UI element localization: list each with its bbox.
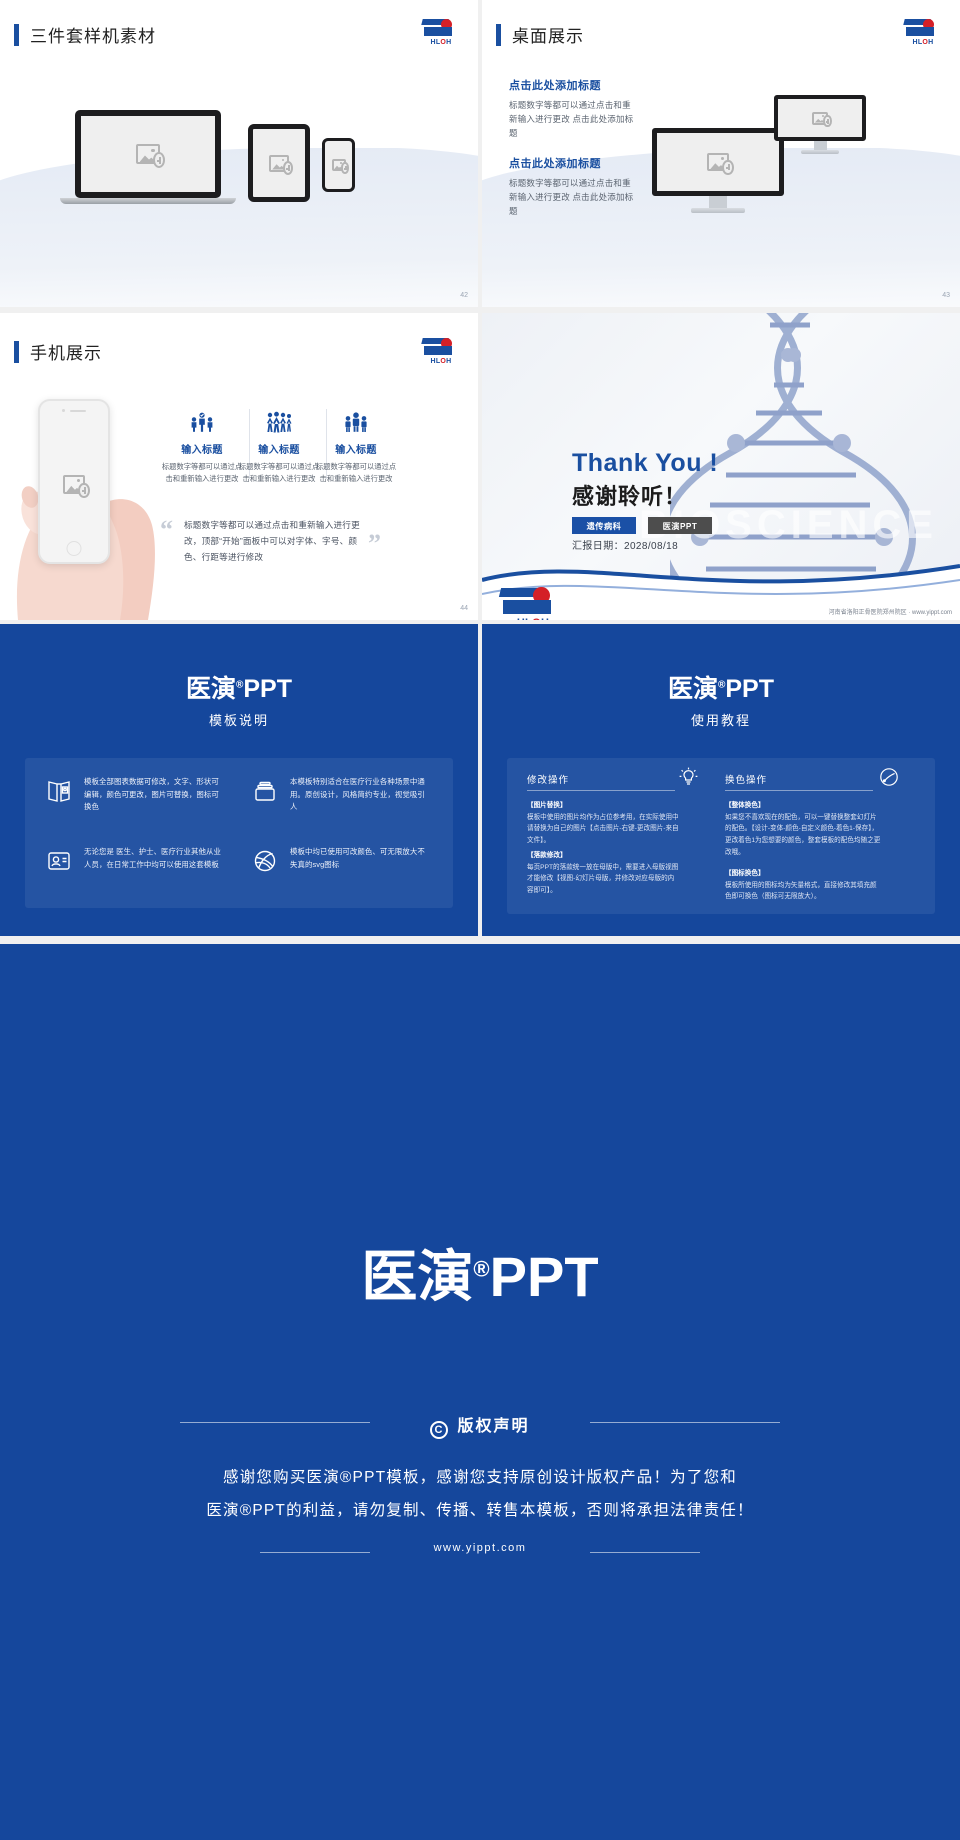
tutorial-item-2-1: 【整体换色】 如果您不喜欢现在的配色，可以一键替换整套幻灯片的配色。【设计-变体… [725, 800, 883, 859]
tag-brand[interactable]: 医演PPT [648, 517, 712, 534]
slide4-footer-note: 河南省洛阳正骨医院郑州院区 · www.yippt.com [829, 607, 952, 616]
book-icon [44, 776, 74, 806]
slide-separator-vertical [478, 0, 482, 936]
slide-5-template-description[interactable]: 医演®PPT 模板说明 模板全部图表数据可修改，文字、形状可编辑，颜色可更改，图… [0, 624, 478, 936]
page-number: 43 [942, 292, 950, 299]
brand-subtitle: 使用教程 [482, 710, 960, 729]
block-heading: 点击此处添加标题 [509, 77, 639, 93]
page-number: 44 [460, 605, 468, 612]
title-tick-icon [14, 341, 19, 363]
brand-logo-large: 医演®PPT [0, 1232, 960, 1313]
feature-body: 标题数字等都可以通过点击和重新输入进行更改 [237, 461, 321, 485]
presentation-grid: 三件套样机素材 [0, 0, 960, 1840]
description-text: 本模板特别适合在医疗行业各种场景中通用。原创设计，风格简约专业，视觉吸引人 [290, 776, 430, 814]
quote-close-icon: ” [368, 531, 381, 557]
three-people-icon [314, 409, 398, 435]
copyright-body: 感谢您购买医演®PPT模板，感谢您支持原创设计版权产品！为了您和 医演®PPT的… [0, 1462, 960, 1527]
brand-block: 医演®PPT 模板说明 [0, 669, 478, 729]
brand-name: 医演®PPT [186, 669, 292, 705]
tutorial-heading-2: 换色操作 [725, 772, 767, 786]
tutorial-heading-1: 修改操作 [527, 772, 569, 786]
hloh-logo: HLOH [422, 337, 460, 369]
feature-title: 输入标题 [314, 441, 398, 456]
hloh-logo: HLOH [422, 18, 460, 50]
slide-2-title: 桌面展示 [496, 22, 584, 47]
feature-item-1: 输入标题 标题数字等都可以通过点击和重新输入进行更改 [160, 409, 244, 485]
team-check-icon [160, 409, 244, 435]
tag-department[interactable]: 遗传病科 [572, 517, 636, 534]
description-item-4: 模板中均已使用可改颜色、可无限放大不失真的svg图标 [250, 846, 430, 876]
slide-6-usage-tutorial[interactable]: 医演®PPT 使用教程 修改操作 【图片替换】 模板中使用的图片均作为占位参考用… [482, 624, 960, 936]
slide2-text-block-2: 点击此处添加标题 标题数字等都可以通过点击和重新输入进行更改 点击此处添加标题 [509, 155, 639, 218]
page-number: 42 [460, 292, 468, 299]
image-placeholder-icon [63, 475, 85, 494]
title-tick-icon [14, 24, 19, 46]
home-button-icon [67, 541, 82, 556]
feature-item-3: 输入标题 标题数字等都可以通过点击和重新输入进行更改 [314, 409, 398, 485]
block-body: 标题数字等都可以通过点击和重新输入进行更改 点击此处添加标题 [509, 177, 639, 218]
copyright-body-line-2: 医演®PPT的利益，请勿复制、传播、转售本模板，否则将承担法律责任！ [0, 1495, 960, 1528]
image-placeholder-icon [707, 153, 729, 171]
tutorial-underline-1 [527, 790, 675, 791]
description-item-3: 无论您是 医生、护士、医疗行业其他从业人员，在日常工作中均可以使用这套模板 [44, 846, 224, 876]
tutorial-item-1-2: 【落款修改】 每页PPT的落款统一放在母版中，需要进入母版视图才能修改【视图-幻… [527, 850, 679, 897]
group-people-icon [237, 409, 321, 435]
thank-you-heading-zh: 感谢聆听！ [572, 479, 687, 511]
slide-separator-horizontal-3 [0, 936, 960, 944]
phone-mockup [322, 138, 355, 192]
slide-separator-horizontal-2 [0, 620, 960, 624]
slide-7-copyright[interactable]: 医演®PPT C版权声明 感谢您购买医演®PPT模板，感谢您支持原创设计版权产品… [0, 944, 960, 1840]
title-tick-icon [496, 24, 501, 46]
description-item-1: 模板全部图表数据可修改，文字、形状可编辑，颜色可更改，图片可替换，图标可换色 [44, 776, 224, 814]
quote-text: 标题数字等都可以通过点击和重新输入进行更改，顶部“开始”面板中可以对字体、字号、… [184, 518, 366, 566]
copyright-circle-icon: C [430, 1421, 448, 1439]
monitor-mockup-primary [652, 128, 784, 213]
tutorial-item-1-1: 【图片替换】 模板中使用的图片均作为占位参考用，在实际使用中请替换为自己的图片【… [527, 800, 679, 847]
slide-1-three-device-mockup[interactable]: 三件套样机素材 [0, 0, 478, 307]
feature-title: 输入标题 [237, 441, 321, 456]
image-placeholder-icon [136, 144, 160, 164]
slide-1-title: 三件套样机素材 [14, 22, 156, 47]
copyright-heading: C版权声明 [0, 1412, 960, 1439]
slide-3-title: 手机展示 [14, 339, 102, 364]
hloh-logo-large: HLOH [500, 586, 566, 618]
quote-open-icon: “ [160, 517, 173, 543]
tablet-mockup [248, 124, 310, 202]
bulb-icon [678, 766, 700, 793]
feature-body: 标题数字等都可以通过点击和重新输入进行更改 [160, 461, 244, 485]
dribbble-icon [250, 846, 280, 876]
slide-4-thank-you[interactable]: BIOSCIENCE Thank You ! 感谢聆听！ 遗传病科 医演PPT … [482, 313, 960, 620]
palette-icon [878, 766, 900, 793]
feature-body: 标题数字等都可以通过点击和重新输入进行更改 [314, 461, 398, 485]
description-text: 模板全部图表数据可修改，文字、形状可编辑，颜色可更改，图片可替换，图标可换色 [84, 776, 224, 814]
slide-separator-horizontal-1 [0, 307, 960, 313]
description-item-2: 本模板特别适合在医疗行业各种场景中通用。原创设计，风格简约专业，视觉吸引人 [250, 776, 430, 814]
hand-holding-phone [8, 385, 158, 620]
image-placeholder-icon [332, 159, 346, 171]
image-placeholder-icon [269, 155, 289, 172]
slide-2-desktop-display[interactable]: 桌面展示 点击此处添加标题 标题数字等都可以通过点击和重新输入进行更改 点击此处… [482, 0, 960, 307]
hloh-logo: HLOH [904, 18, 942, 50]
box-icon [250, 776, 280, 806]
laptop-mockup [75, 110, 221, 204]
description-text: 无论您是 医生、护士、医疗行业其他从业人员，在日常工作中均可以使用这套模板 [84, 846, 224, 871]
phone-mockup [38, 399, 110, 564]
block-body: 标题数字等都可以通过点击和重新输入进行更改 点击此处添加标题 [509, 99, 639, 140]
website-url: www.yippt.com [0, 1542, 960, 1554]
tutorial-item-2-2: 【图标换色】 模板所使用的图标均为矢量格式，直接修改其填充颜色即可换色（图标可无… [725, 868, 883, 903]
brand-subtitle: 模板说明 [0, 710, 478, 729]
monitor-mockup-secondary [774, 95, 866, 154]
feature-item-2: 输入标题 标题数字等都可以通过点击和重新输入进行更改 [237, 409, 321, 485]
thank-you-heading-en: Thank You ! [572, 449, 718, 478]
slide-3-phone-display[interactable]: 手机展示 [0, 313, 478, 620]
tutorial-underline-2 [725, 790, 873, 791]
user-card-icon [44, 846, 74, 876]
brand-block: 医演®PPT 使用教程 [482, 669, 960, 729]
image-placeholder-icon [812, 112, 828, 125]
copyright-body-line-1: 感谢您购买医演®PPT模板，感谢您支持原创设计版权产品！为了您和 [0, 1462, 960, 1495]
block-heading: 点击此处添加标题 [509, 155, 639, 171]
brand-name: 医演®PPT [668, 669, 774, 705]
slide2-text-block-1: 点击此处添加标题 标题数字等都可以通过点击和重新输入进行更改 点击此处添加标题 [509, 77, 639, 140]
slide1-background-wave [0, 148, 478, 307]
description-text: 模板中均已使用可改颜色、可无限放大不失真的svg图标 [290, 846, 430, 871]
feature-title: 输入标题 [160, 441, 244, 456]
